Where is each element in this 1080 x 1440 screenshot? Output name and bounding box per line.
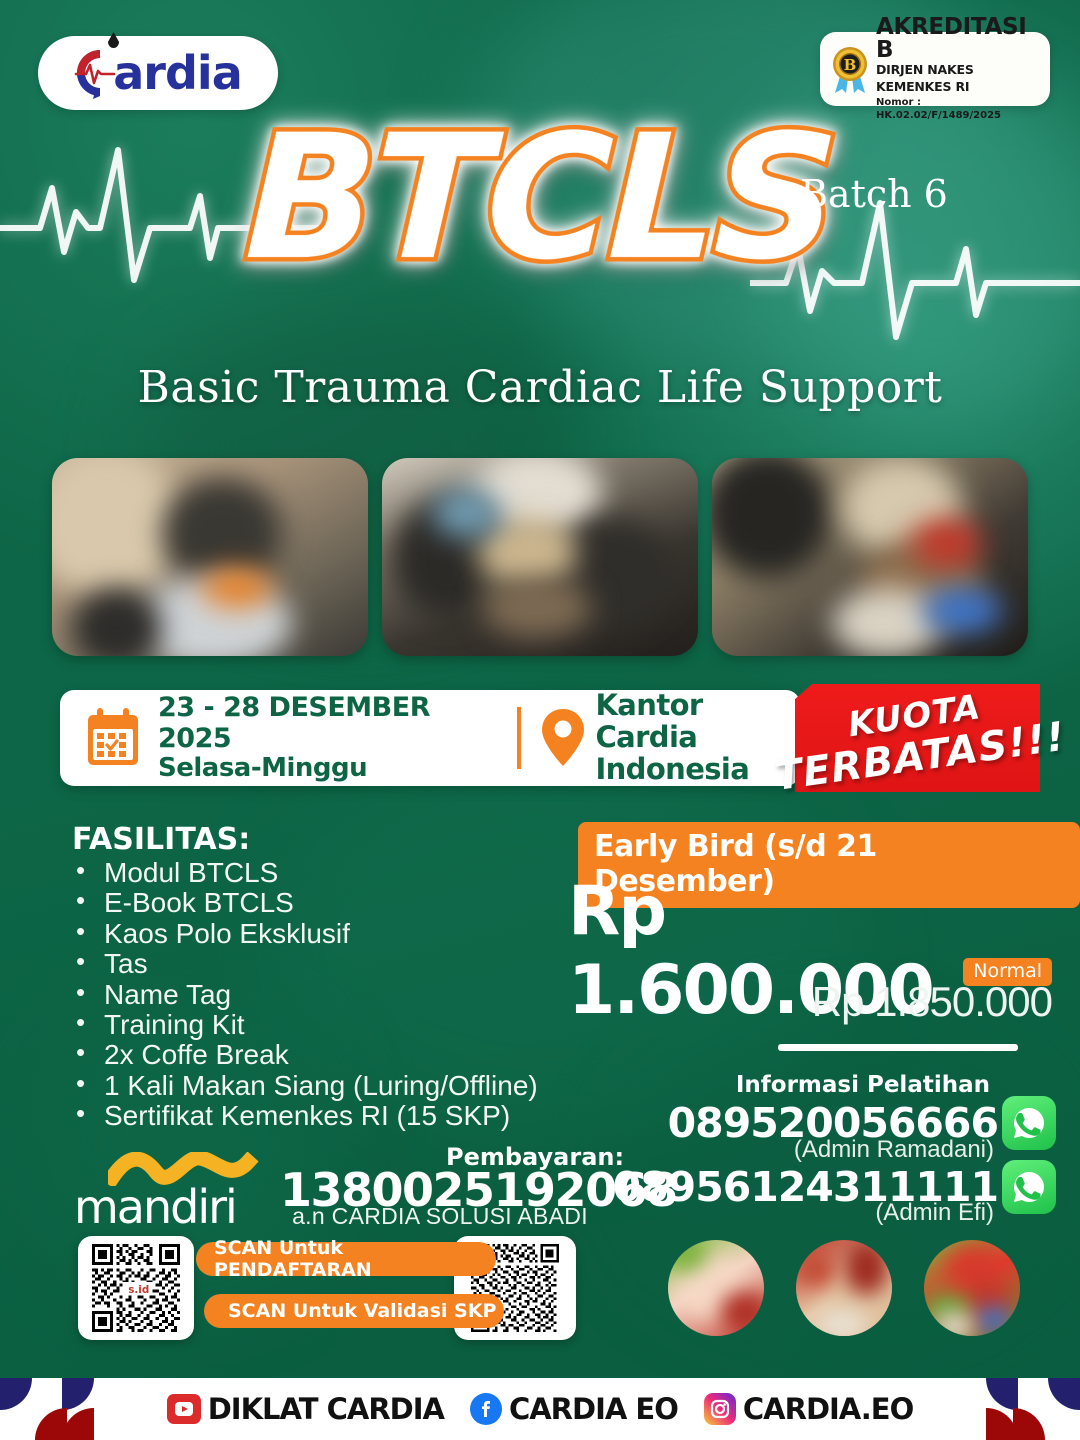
event-location-line2: Indonesia <box>595 754 800 786</box>
normal-price: Rp 1.850.000 <box>812 978 1052 1026</box>
social-facebook-label: CARDIA EO <box>509 1392 678 1426</box>
training-photo-strip <box>52 458 1028 656</box>
admin-name-2: (Admin Efi) <box>875 1199 994 1227</box>
photo-cpr-instructor-demo <box>52 458 368 656</box>
photo-chest-compression <box>796 1240 892 1336</box>
scan-registration-label[interactable]: SCAN Untuk PENDAFTARAN <box>196 1242 496 1276</box>
svg-text:B: B <box>844 56 857 74</box>
event-date: 23 - 28 DESEMBER 2025 <box>158 692 489 754</box>
accreditation-badge: B AKREDITASI B DIRJEN NAKES KEMENKES RI … <box>820 32 1050 106</box>
contact-heading: Informasi Pelatihan <box>630 1072 1050 1098</box>
scan-validation-text: SCAN Untuk Validasi SKP <box>228 1300 496 1322</box>
photo-rescuer-field <box>924 1240 1020 1336</box>
list-item: 2x Coffe Break <box>68 1040 538 1070</box>
accreditation-title: AKREDITASI B <box>876 16 1040 62</box>
page-title: BTCLS <box>243 112 837 284</box>
payment-account-holder: a.n CARDIA SOLUSI ABADI <box>280 1203 600 1230</box>
social-instagram-label: CARDIA.EO <box>743 1392 913 1426</box>
list-item: Name Tag <box>68 980 538 1010</box>
circle-photo-row <box>668 1240 1020 1336</box>
scan-registration-text: SCAN Untuk PENDAFTARAN <box>214 1237 496 1281</box>
list-item: Sertifikat Kemenkes RI (15 SKP) <box>68 1101 538 1131</box>
divider <box>778 1044 1018 1051</box>
calendar-icon <box>84 707 142 769</box>
footer-social-bar: DIKLAT CARDIA CARDIA EO <box>0 1378 1080 1440</box>
map-pin-icon <box>541 708 585 768</box>
list-item: Modul BTCLS <box>68 858 538 888</box>
list-item: Kaos Polo Eksklusif <box>68 919 538 949</box>
qr-left-badge-text: s.id <box>128 1284 149 1296</box>
youtube-icon[interactable] <box>167 1394 201 1424</box>
social-facebook[interactable]: CARDIA EO <box>470 1392 678 1426</box>
list-item: Training Kit <box>68 1010 538 1040</box>
facilities-list: Modul BTCLS E-Book BTCLS Kaos Polo Ekskl… <box>68 858 538 1131</box>
cardia-logo-text: ardia <box>113 46 241 100</box>
qr-code-registration[interactable]: s.id <box>78 1236 194 1340</box>
qr-code-registration-image[interactable]: s.id <box>86 1244 186 1332</box>
photo-group-training-floor <box>382 458 698 656</box>
event-days: Selasa-Minggu <box>158 754 489 784</box>
facilities-title: FASILITAS: <box>72 822 250 857</box>
social-youtube-label: DIKLAT CARDIA <box>208 1392 444 1426</box>
ink-drop-icon <box>108 32 119 48</box>
event-info-bar: 23 - 28 DESEMBER 2025 Selasa-Minggu Kant… <box>60 690 800 786</box>
event-location-line1: Kantor Cardia <box>595 690 800 754</box>
list-item: E-Book BTCLS <box>68 888 538 918</box>
scan-validation-label[interactable]: SCAN Untuk Validasi SKP <box>204 1294 504 1328</box>
poster-root: ardia B AKREDITASI B DIRJEN NAKES KEMENK… <box>0 0 1080 1440</box>
accreditation-authority: DIRJEN NAKES KEMENKES RI <box>876 62 1040 96</box>
mandiri-bank-name: mandiri <box>74 1180 274 1234</box>
batch-label: Batch 6 <box>800 172 948 216</box>
social-youtube[interactable]: DIKLAT CARDIA <box>167 1392 444 1426</box>
instagram-icon[interactable] <box>704 1393 736 1425</box>
list-item: Tas <box>68 949 538 979</box>
facebook-icon[interactable] <box>470 1393 502 1425</box>
photo-infant-cpr <box>668 1240 764 1336</box>
social-instagram[interactable]: CARDIA.EO <box>704 1392 913 1426</box>
gold-medal-icon: B <box>828 43 872 95</box>
whatsapp-icon[interactable] <box>1002 1096 1056 1150</box>
photo-aed-practice <box>712 458 1028 656</box>
cardia-logo: ardia <box>38 36 278 110</box>
list-item: 1 Kali Makan Siang (Luring/Offline) <box>68 1071 538 1101</box>
mandiri-bank-logo: mandiri <box>74 1152 274 1234</box>
page-subtitle: Basic Trauma Cardiac Life Support <box>0 362 1080 413</box>
divider <box>517 707 521 769</box>
whatsapp-icon[interactable] <box>1002 1160 1056 1214</box>
quota-ribbon: KUOTA TERBATAS!!! <box>795 684 1040 792</box>
